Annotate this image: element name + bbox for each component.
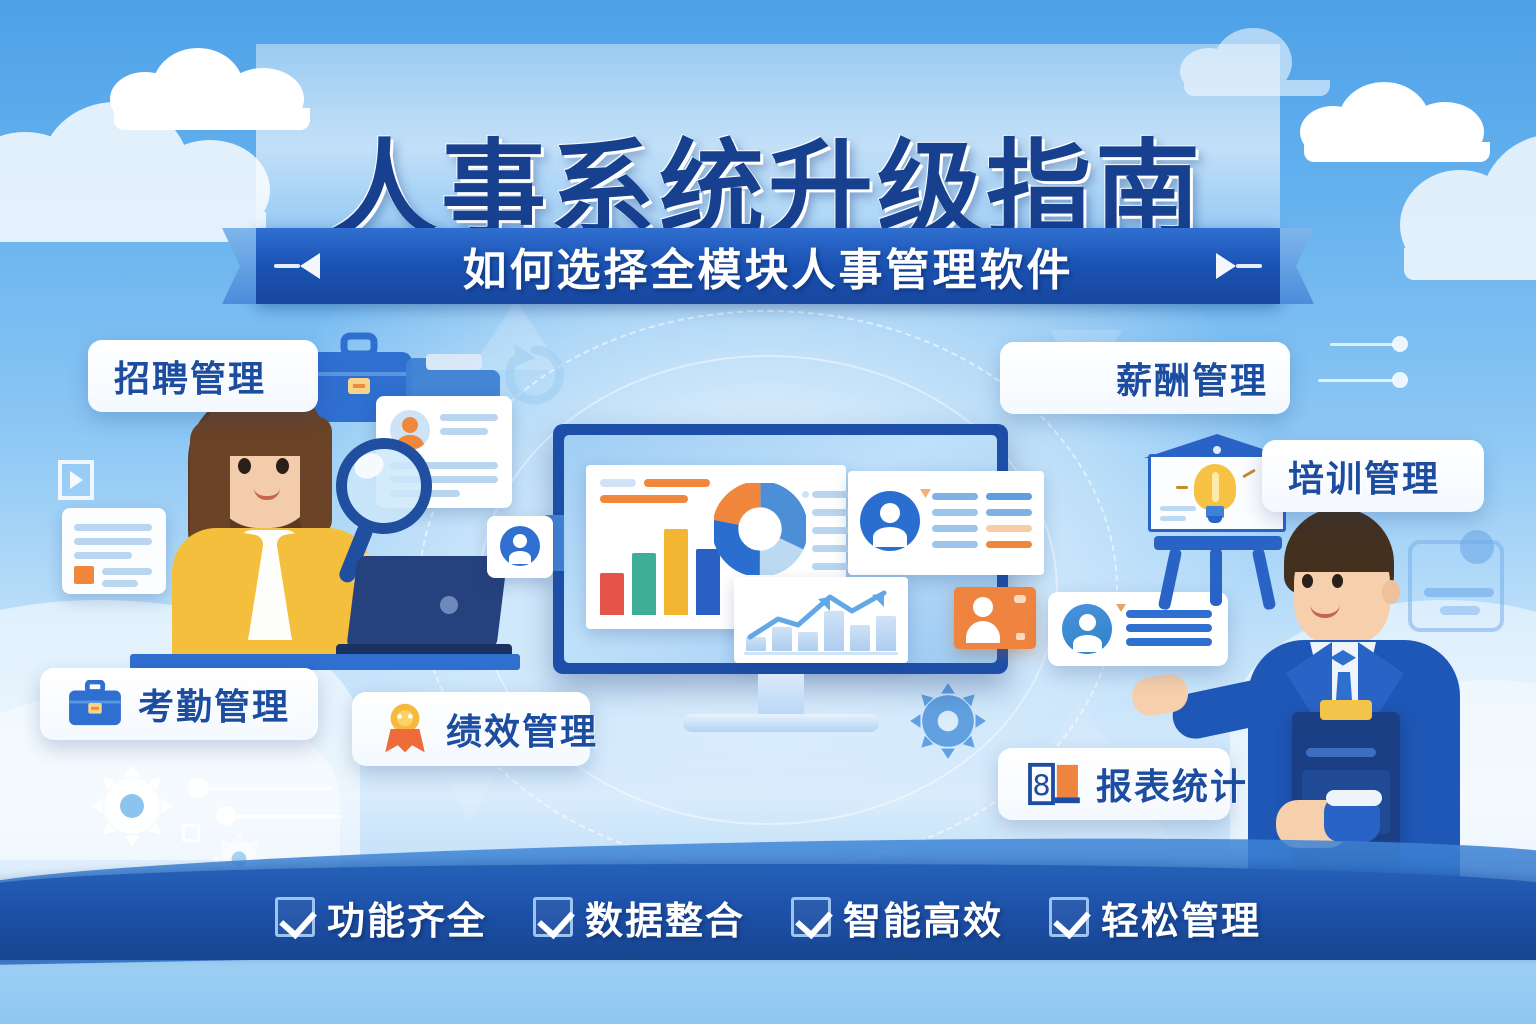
bar-0 — [600, 573, 624, 615]
legend-chip — [644, 479, 710, 487]
connector-line — [204, 787, 334, 790]
bottom-checklist-bar: 功能齐全 数据整合 智能高效 轻松管理 — [0, 824, 1536, 1024]
monitor-neck — [758, 674, 804, 718]
bar-2 — [664, 529, 688, 615]
trend-card — [734, 577, 908, 663]
bottom-fill — [0, 960, 1536, 1024]
profile-card — [848, 471, 1044, 575]
pill-performance-label: 绩效管理 — [446, 703, 598, 755]
user-avatar-icon — [860, 491, 920, 551]
bar-1 — [632, 553, 656, 615]
user-chip-card — [487, 516, 553, 578]
pill-report-label: 报表统计 — [1096, 758, 1248, 810]
user-avatar-icon — [500, 526, 540, 566]
checklist-item-label: 数据整合 — [585, 890, 745, 945]
monitor-frame — [553, 424, 1008, 674]
user-avatar-icon — [1062, 604, 1112, 654]
checklist-item-label: 功能齐全 — [327, 890, 487, 945]
pill-training[interactable]: 培训管理 — [1262, 440, 1484, 512]
pill-attendance-label: 考勤管理 — [138, 678, 290, 730]
legend-chip — [600, 495, 688, 503]
pill-recruit-label: 招聘管理 — [114, 350, 266, 402]
subtitle-ribbon: 如何选择全模块人事管理软件 — [256, 228, 1280, 304]
check-icon — [275, 897, 315, 937]
magnifier-icon — [336, 438, 432, 534]
check-icon — [1049, 897, 1089, 937]
legend-chip — [600, 479, 636, 487]
svg-text:8: 8 — [1032, 769, 1050, 803]
monitor-base — [683, 714, 879, 732]
cloud-icon — [0, 92, 280, 222]
pill-report[interactable]: 8 报表统计 — [998, 748, 1230, 820]
cloud-icon — [1400, 120, 1536, 270]
page-subtitle: 如何选择全模块人事管理软件 — [463, 234, 1074, 298]
arrow-right-icon — [1216, 253, 1236, 279]
bar-chart — [600, 511, 724, 615]
checklist-item[interactable]: 智能高效 — [791, 890, 1003, 945]
node-dot — [1392, 336, 1408, 352]
badge-person-icon — [378, 702, 432, 756]
connector-line — [1330, 343, 1394, 346]
woman-with-laptop-illustration — [150, 380, 480, 680]
orange-profile-card — [954, 587, 1036, 649]
donut-chart — [714, 483, 806, 575]
check-icon — [533, 897, 573, 937]
checklist-item[interactable]: 轻松管理 — [1049, 890, 1261, 945]
checklist-item[interactable]: 数据整合 — [533, 890, 745, 945]
trend-line — [734, 583, 908, 649]
pill-payroll[interactable]: 薪酬管理 — [1000, 342, 1290, 414]
node-dot — [1392, 372, 1408, 388]
play-triangle-icon — [58, 460, 94, 500]
arrow-left-icon — [300, 253, 320, 279]
pill-recruit[interactable]: 招聘管理 — [88, 340, 318, 412]
report-icon: 8 — [1024, 761, 1082, 807]
poster-header: 人事系统升级指南 如何选择全模块人事管理软件 — [256, 44, 1280, 304]
pill-training-label: 培训管理 — [1288, 450, 1440, 502]
pill-payroll-label: 薪酬管理 — [1116, 352, 1268, 404]
arrow-tail-left — [274, 264, 300, 268]
monitor-dashboard — [553, 424, 1008, 734]
arrow-tail-right — [1236, 264, 1262, 268]
checklist-item-label: 轻松管理 — [1101, 890, 1261, 945]
poster-canvas: 人事系统升级指南 如何选择全模块人事管理软件 — [0, 0, 1536, 1024]
checklist-item-label: 智能高效 — [843, 890, 1003, 945]
laptop-icon — [336, 556, 508, 668]
checklist-row: 功能齐全 数据整合 智能高效 轻松管理 — [0, 876, 1536, 958]
pill-attendance[interactable]: 考勤管理 — [40, 668, 318, 740]
connector-line — [232, 815, 342, 818]
check-icon — [791, 897, 831, 937]
pill-performance[interactable]: 绩效管理 — [352, 692, 590, 766]
connector-line — [1318, 379, 1394, 382]
briefcase-icon — [66, 680, 124, 728]
checklist-item[interactable]: 功能齐全 — [275, 890, 487, 945]
monitor-screen — [564, 435, 997, 663]
